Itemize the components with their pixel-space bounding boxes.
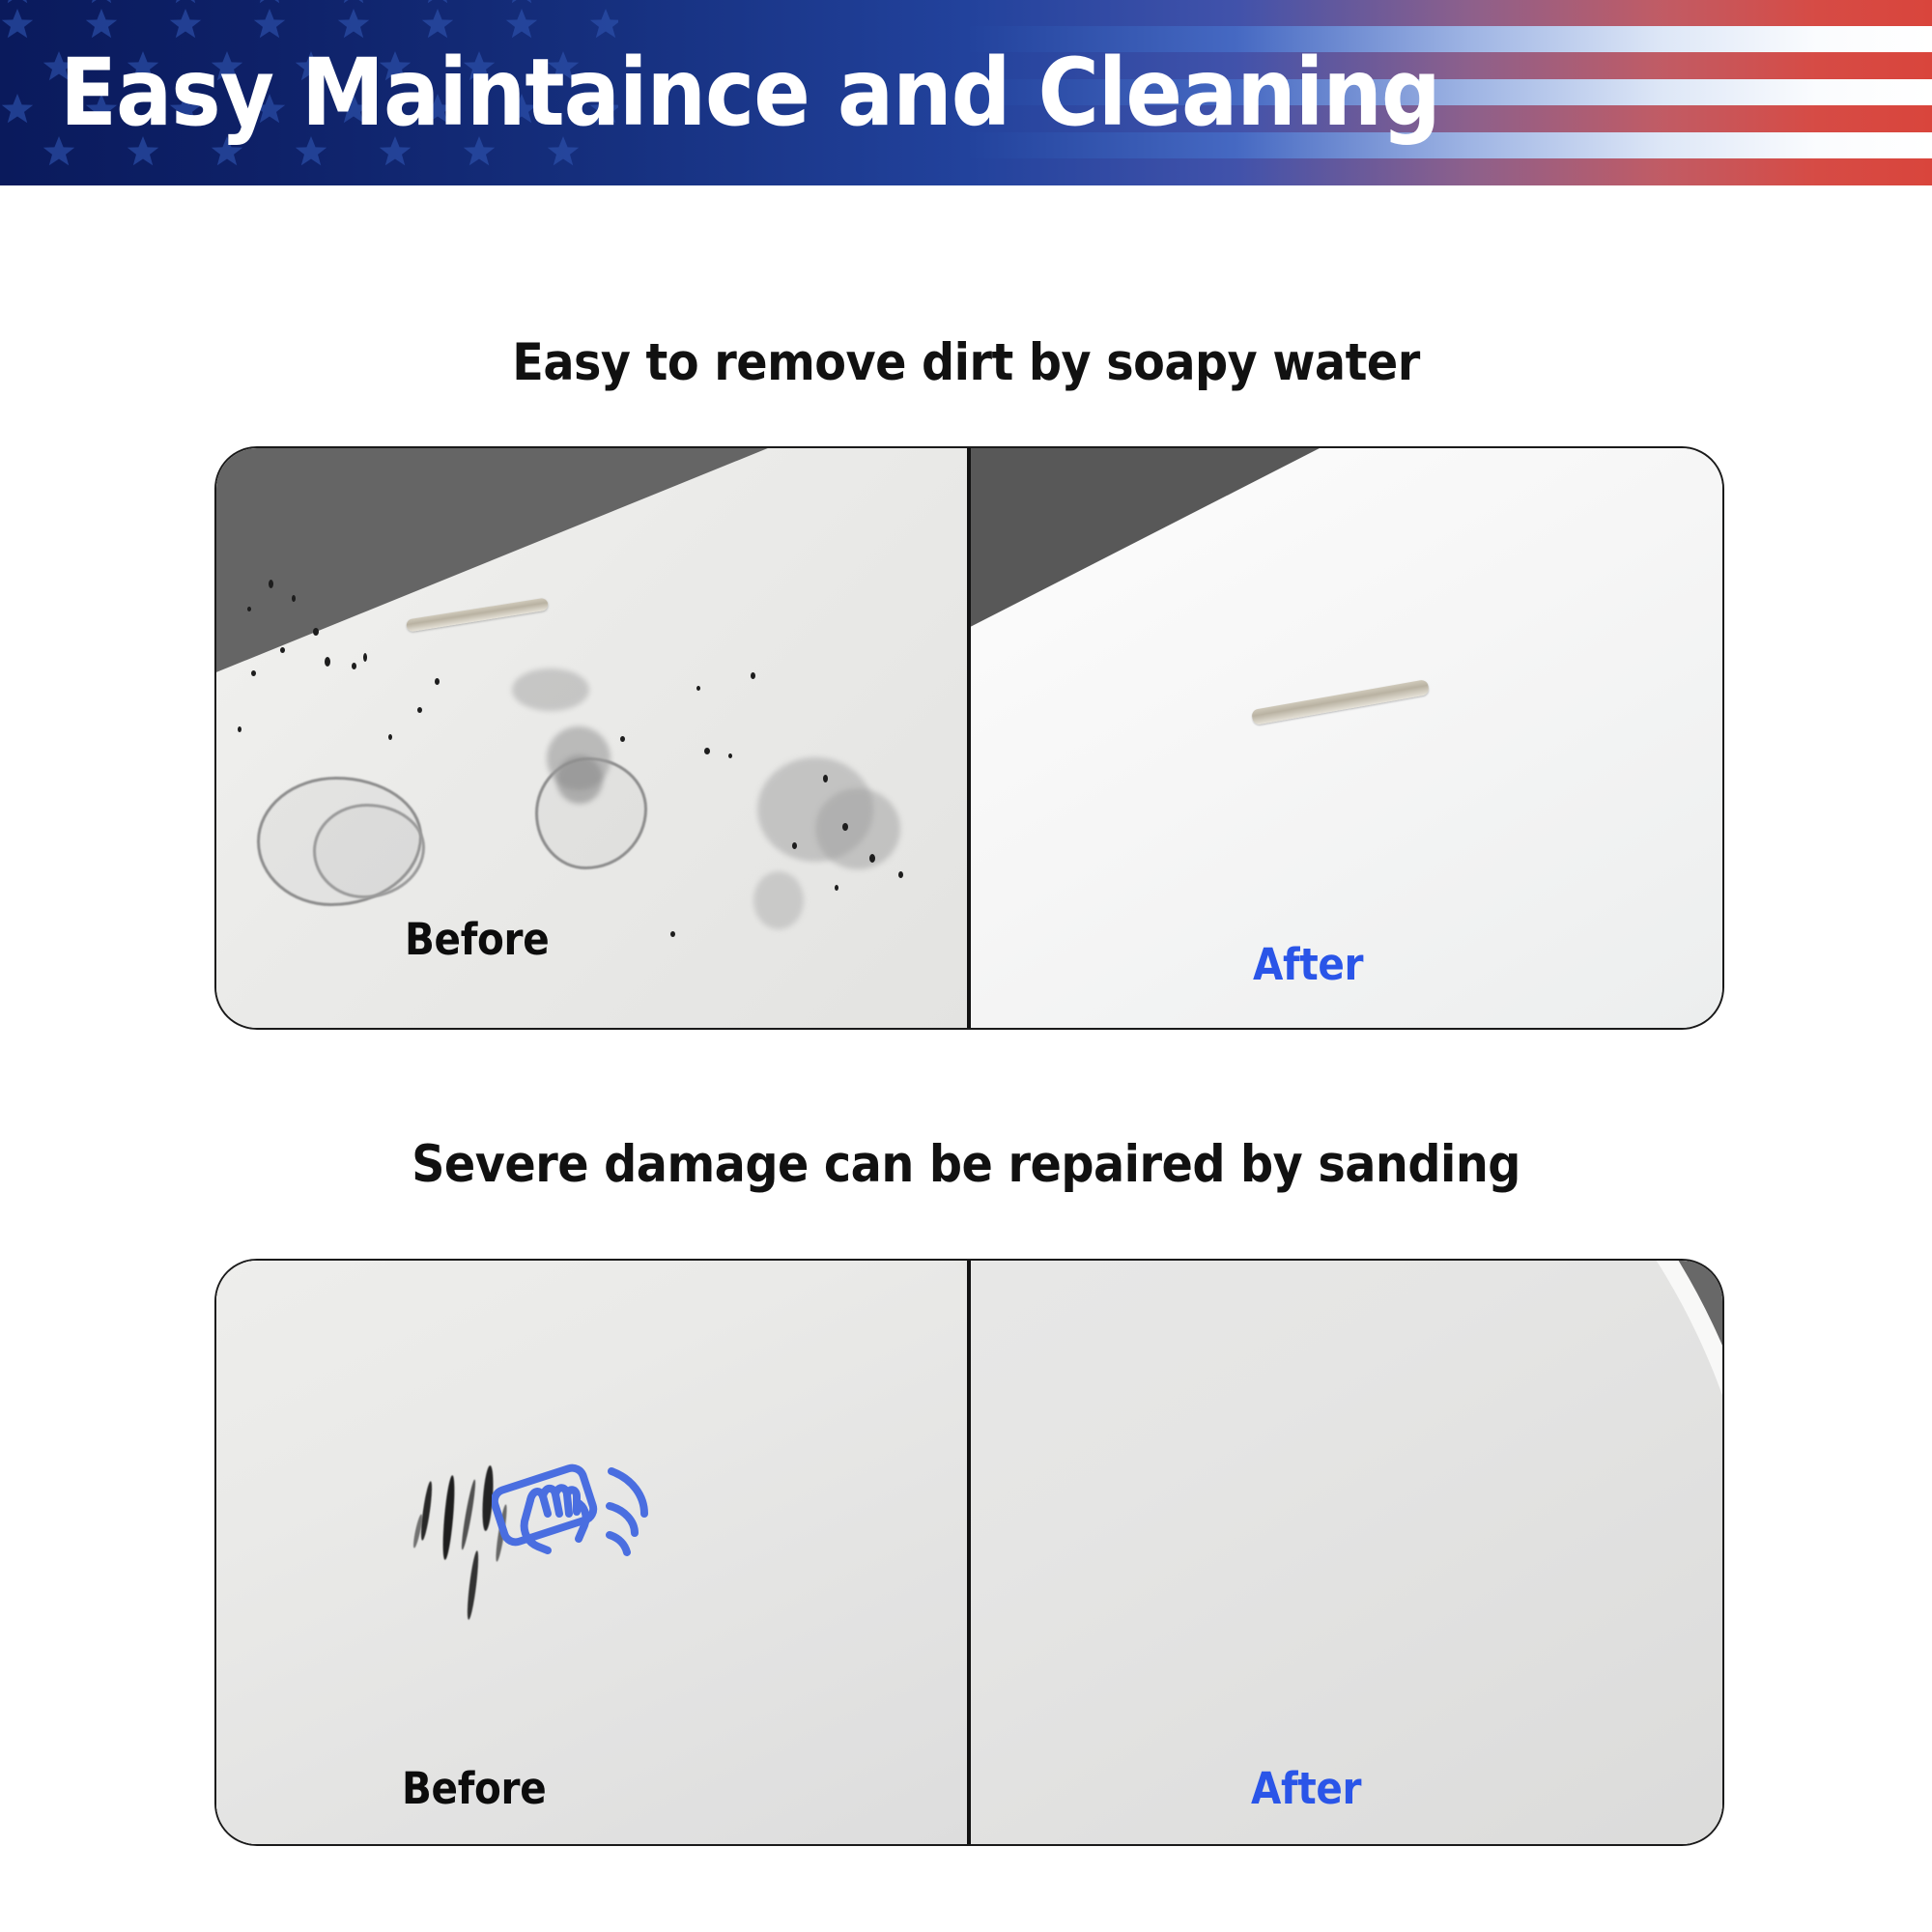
dirt-speck	[823, 775, 828, 782]
dirt-speck	[352, 663, 356, 669]
dirt-speck	[620, 736, 625, 742]
dirt-speck	[417, 707, 422, 713]
dirt-smudge	[512, 668, 589, 711]
after-image-cleaning: After	[971, 448, 1724, 1028]
dirt-smudge	[556, 755, 603, 804]
dirt-speck	[696, 686, 700, 691]
before-label: Before	[402, 1763, 546, 1814]
dirt-speck	[269, 580, 273, 588]
dirt-speck	[842, 823, 848, 831]
dirt-speck	[238, 726, 241, 732]
dirt-smudge	[815, 788, 900, 869]
before-image-sanding: Before	[216, 1261, 969, 1844]
after-label: After	[1253, 939, 1363, 990]
dirt-speck	[751, 672, 755, 679]
dirt-speck	[435, 678, 440, 685]
dirt-speck	[388, 734, 392, 740]
dirt-speck	[898, 871, 903, 878]
dirt-speck	[869, 854, 875, 863]
dirt-speck	[251, 670, 256, 676]
comparison-panel-sanding: Before After	[214, 1259, 1724, 1846]
dirt-speck	[670, 931, 675, 937]
after-image-sanding: After	[971, 1261, 1724, 1844]
wipe-cloth-icon	[492, 1446, 675, 1577]
before-image-cleaning: Before	[216, 448, 969, 1028]
dirt-speck	[704, 748, 710, 754]
after-label: After	[1251, 1763, 1361, 1814]
header-banner: Easy Maintaince and Cleaning	[0, 0, 1932, 185]
panel-divider	[967, 1261, 971, 1844]
dirt-speck	[363, 653, 367, 662]
dirt-speck	[792, 842, 797, 849]
banner-title: Easy Maintaince and Cleaning	[60, 46, 1440, 139]
dirt-speck	[835, 885, 838, 891]
tub-surface	[971, 1261, 1724, 1844]
section-heading-sanding: Severe damage can be repaired by sanding	[0, 1135, 1932, 1194]
before-label: Before	[405, 914, 549, 965]
dirt-smudge	[753, 871, 804, 929]
dirt-speck	[292, 595, 296, 602]
section-heading-cleaning: Easy to remove dirt by soapy water	[0, 333, 1932, 392]
comparison-panel-cleaning: Before After	[214, 446, 1724, 1030]
dirt-speck	[313, 628, 319, 636]
dirt-speck	[280, 647, 285, 653]
dirt-speck	[728, 753, 732, 758]
dirt-speck	[247, 607, 251, 611]
panel-divider	[967, 448, 971, 1028]
dirt-speck	[325, 657, 330, 667]
